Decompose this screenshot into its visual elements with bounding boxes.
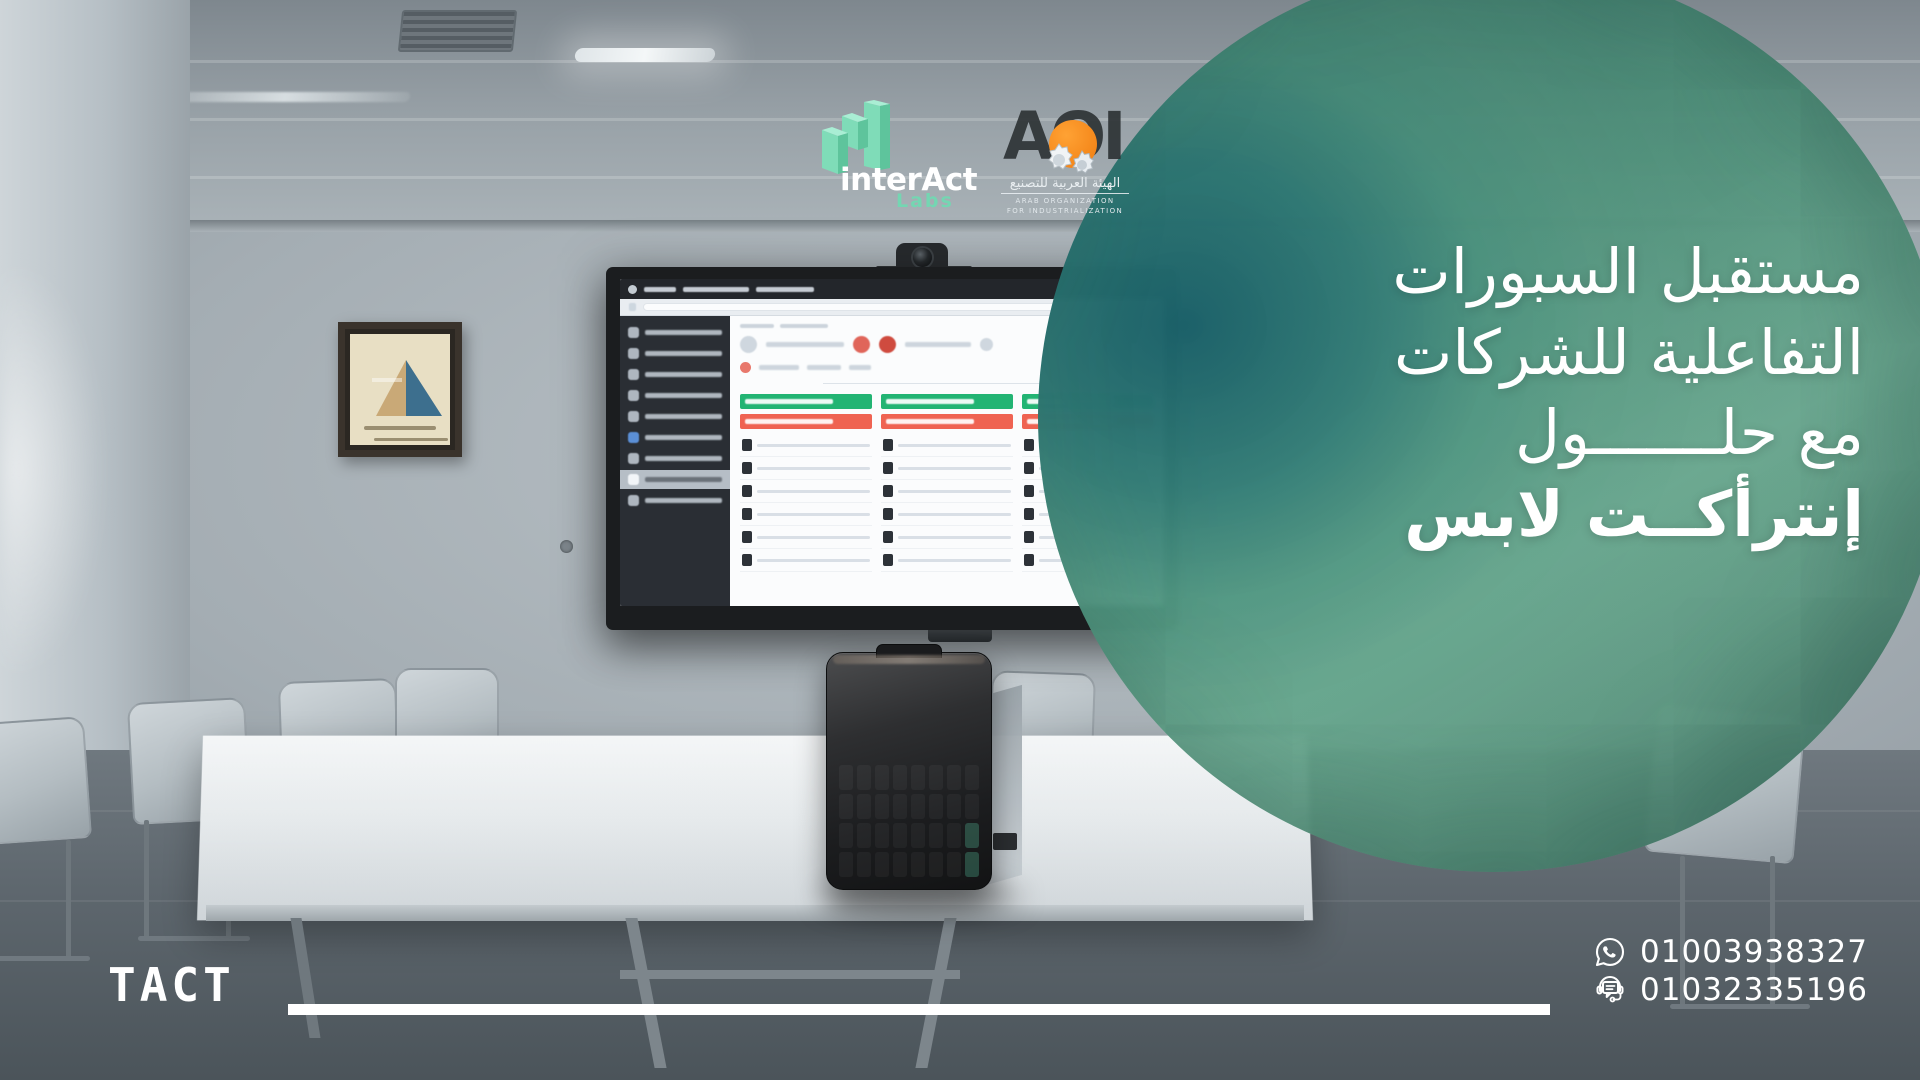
shield-icon	[628, 432, 639, 443]
status-badge	[740, 394, 872, 409]
list-item[interactable]	[881, 526, 1013, 549]
headline-line-4-brand: إنترأكــت لابس	[1144, 474, 1864, 556]
sidebar-item[interactable]	[620, 386, 730, 405]
video-camera-icon	[896, 243, 948, 269]
item-icon	[1024, 439, 1034, 451]
aoi-english-line2: FOR INDUSTRIALIZATION	[995, 206, 1135, 216]
list-item[interactable]	[740, 457, 872, 480]
avatar	[853, 336, 870, 353]
contact-row-whatsapp[interactable]: 01003938327	[1594, 936, 1868, 968]
conference-table	[197, 736, 1313, 921]
sidebar-item[interactable]	[620, 428, 730, 447]
ceiling-light	[574, 48, 716, 62]
list-item[interactable]	[881, 457, 1013, 480]
contact-row-support[interactable]: 01032335196	[1594, 974, 1868, 1006]
device-key[interactable]	[857, 765, 871, 790]
app-logo-icon	[628, 285, 637, 294]
device-key[interactable]	[929, 852, 943, 877]
promotional-banner: interAct Labs AOI الهيئة العربية للتصنيع…	[0, 0, 1920, 1080]
device-key[interactable]	[839, 823, 853, 848]
item-icon	[883, 554, 893, 566]
footer-rule	[288, 1004, 1550, 1015]
item-icon	[883, 439, 893, 451]
support-chat-icon	[1594, 974, 1626, 1006]
item-icon	[883, 508, 893, 520]
folder-icon	[628, 474, 639, 485]
aoi-english-line1: ARAB ORGANIZATION	[995, 196, 1135, 206]
item-icon	[1024, 531, 1034, 543]
sidebar-item[interactable]	[620, 344, 730, 363]
avatar	[980, 338, 993, 351]
sidebar-item[interactable]	[620, 407, 730, 426]
list-item[interactable]	[740, 480, 872, 503]
status-badge	[881, 394, 1013, 409]
device-keypad[interactable]	[839, 765, 979, 877]
item-icon	[883, 531, 893, 543]
device-key[interactable]	[839, 852, 853, 877]
window-glow	[0, 260, 150, 680]
aoi-divider	[1001, 193, 1129, 194]
device-key[interactable]	[893, 794, 907, 819]
display-stand	[928, 630, 992, 642]
dashboard-icon	[628, 327, 639, 338]
avatar	[879, 336, 896, 353]
device-key[interactable]	[929, 823, 943, 848]
sidebar-item[interactable]	[620, 491, 730, 510]
device-key[interactable]	[947, 794, 961, 819]
device-key[interactable]	[947, 852, 961, 877]
table-crossbar	[620, 970, 960, 979]
list-item[interactable]	[881, 480, 1013, 503]
chart-icon	[628, 411, 639, 422]
whatsapp-icon	[1594, 936, 1626, 968]
divider	[823, 383, 1071, 384]
sidebar-item[interactable]	[620, 365, 730, 384]
aoi-arabic-name: الهيئة العربية للتصنيع	[995, 176, 1135, 191]
list-item[interactable]	[881, 434, 1013, 457]
sidebar-item[interactable]	[620, 449, 730, 468]
status-dot-icon	[740, 362, 751, 373]
headline-line-3: مع حلـــــــول	[1144, 393, 1864, 474]
item-icon	[883, 485, 893, 497]
device-key[interactable]	[965, 823, 979, 848]
device-key[interactable]	[965, 852, 979, 877]
document-icon	[628, 369, 639, 380]
support-number: 01032335196	[1640, 975, 1868, 1006]
item-icon	[742, 462, 752, 474]
device-key[interactable]	[965, 794, 979, 819]
settings-icon	[628, 495, 639, 506]
device-key[interactable]	[911, 823, 925, 848]
item-icon	[742, 508, 752, 520]
interact-labs-sub: Labs	[896, 190, 954, 212]
item-icon	[742, 485, 752, 497]
item-icon	[1024, 554, 1034, 566]
device-key[interactable]	[911, 794, 925, 819]
device-key[interactable]	[893, 823, 907, 848]
tact-logo: TACT	[108, 958, 235, 1012]
board-column[interactable]	[881, 394, 1013, 572]
list-item[interactable]	[740, 503, 872, 526]
device-key[interactable]	[839, 794, 853, 819]
avatar	[740, 336, 757, 353]
interact-labs-logo: interAct Labs	[812, 100, 972, 210]
device-connector	[993, 833, 1017, 850]
contact-block: 01003938327 01032335196	[1594, 936, 1868, 1012]
device-key[interactable]	[929, 794, 943, 819]
list-item[interactable]	[881, 549, 1013, 572]
aoi-english-name: ARAB ORGANIZATION FOR INDUSTRIALIZATION	[995, 196, 1135, 216]
headline-block: مستقبل السبورات التفاعلية للشركات مع حلـ…	[1144, 232, 1864, 556]
device-key[interactable]	[857, 852, 871, 877]
sidebar-item[interactable]	[620, 323, 730, 342]
item-icon	[1024, 508, 1034, 520]
device-key[interactable]	[857, 823, 871, 848]
item-icon	[742, 531, 752, 543]
wall-socket	[560, 540, 573, 553]
device-key[interactable]	[947, 765, 961, 790]
framed-pyramid-picture	[338, 322, 462, 457]
device-key[interactable]	[875, 765, 889, 790]
list-item[interactable]	[740, 526, 872, 549]
device-rim	[833, 655, 985, 664]
ceiling-vent	[398, 10, 517, 52]
conference-speakerphone[interactable]	[826, 652, 992, 890]
item-icon	[742, 554, 752, 566]
headline-line-2: التفاعلية للشركات	[1144, 313, 1864, 394]
clock-icon	[628, 453, 639, 464]
device-key[interactable]	[875, 852, 889, 877]
device-key[interactable]	[929, 765, 943, 790]
item-icon	[1024, 462, 1034, 474]
list-item[interactable]	[740, 549, 872, 572]
item-icon	[742, 439, 752, 451]
headline-line-1: مستقبل السبورات	[1144, 232, 1864, 313]
device-key[interactable]	[857, 794, 871, 819]
list-icon	[628, 390, 639, 401]
app-sidebar	[620, 316, 730, 606]
device-key[interactable]	[893, 852, 907, 877]
device-key[interactable]	[893, 765, 907, 790]
device-key[interactable]	[839, 765, 853, 790]
device-key[interactable]	[911, 852, 925, 877]
device-key[interactable]	[911, 765, 925, 790]
list-item[interactable]	[740, 434, 872, 457]
status-badge	[881, 414, 1013, 429]
board-column[interactable]	[740, 394, 872, 572]
table-edge	[206, 905, 1304, 921]
status-badge	[740, 414, 872, 429]
device-key[interactable]	[965, 765, 979, 790]
item-icon	[1024, 485, 1034, 497]
ceiling-light-strip	[159, 92, 411, 102]
sidebar-item-selected[interactable]	[620, 470, 730, 489]
inbox-icon	[628, 348, 639, 359]
device-key[interactable]	[875, 794, 889, 819]
aoi-logo: AOI الهيئة العربية للتصنيع ARAB ORGANIZA…	[995, 96, 1135, 214]
device-key[interactable]	[947, 823, 961, 848]
item-icon	[883, 462, 893, 474]
whatsapp-number: 01003938327	[1640, 937, 1868, 968]
list-item[interactable]	[881, 503, 1013, 526]
device-key[interactable]	[875, 823, 889, 848]
